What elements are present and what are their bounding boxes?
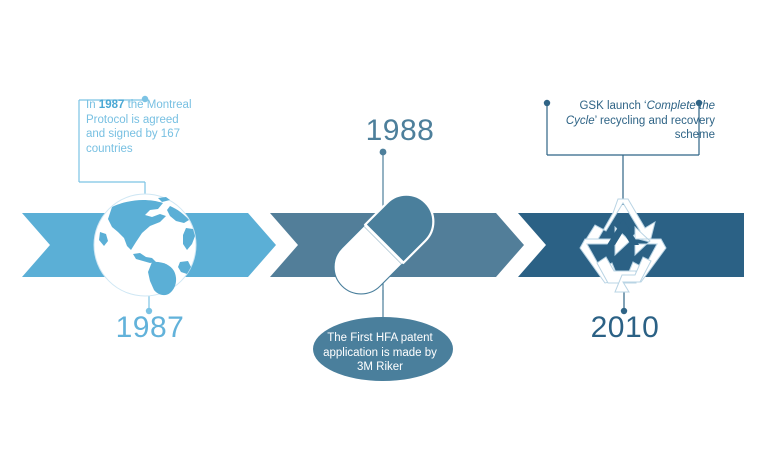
note-montreal-prefix: In (86, 99, 99, 111)
note-hfa-patent: The First HFA patent application is made… (315, 331, 445, 375)
timeline-infographic: 1987 1988 2010 In 1987 the Montreal Prot… (0, 0, 760, 470)
note-gsk-prefix: GSK launch ‘ (579, 100, 646, 112)
year-label-1987: 1987 (60, 313, 240, 343)
year-label-2010: 2010 (535, 313, 715, 343)
year-label-1988: 1988 (310, 116, 490, 146)
note-montreal-protocol: In 1987 the Montreal Protocol is agreed … (86, 98, 198, 156)
note-gsk-complete-the-cycle: GSK launch ‘Complete the Cycle’ recyclin… (549, 99, 715, 143)
timeline-text: 1987 1988 2010 In 1987 the Montreal Prot… (0, 0, 760, 470)
note-montreal-emphasis: 1987 (99, 99, 125, 111)
note-gsk-suffix: ’ recycling and recovery scheme (595, 115, 715, 142)
